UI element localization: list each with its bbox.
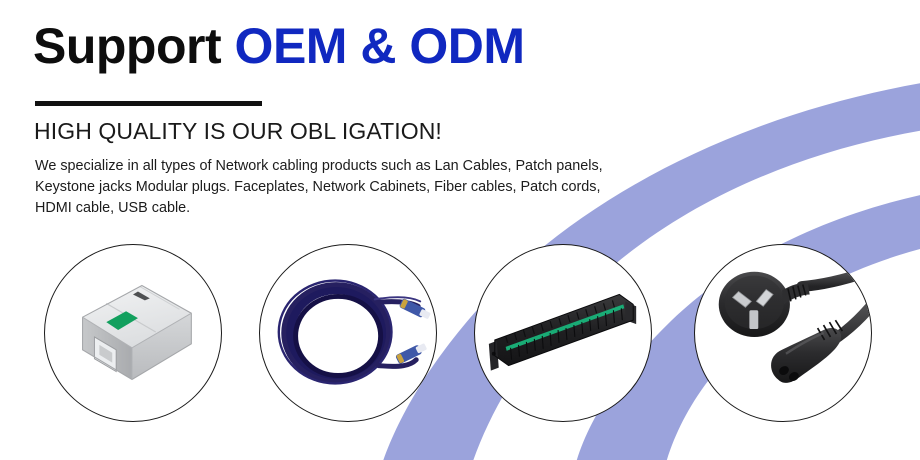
body-line-2: Keystone jacks Modular plugs. Faceplates… xyxy=(35,177,675,198)
body-line-3: HDMI cable, USB cable. xyxy=(35,198,675,219)
product-circle-patch-panel xyxy=(474,244,652,422)
power-cord-image xyxy=(695,245,871,421)
headline-support-word: Support xyxy=(33,18,221,74)
banner-subtitle: HIGH QUALITY IS OUR OBL IGATION! xyxy=(34,118,442,145)
body-line-1: We specialize in all types of Network ca… xyxy=(35,156,675,177)
banner-body-copy: We specialize in all types of Network ca… xyxy=(35,156,675,219)
fiber-connector-upper xyxy=(399,298,432,321)
patch-panel-image xyxy=(475,245,651,421)
headline-underline-rule xyxy=(35,101,262,106)
banner-headline: Support OEM & ODM xyxy=(33,20,524,73)
surface-mount-box-image xyxy=(45,245,221,421)
fiber-patch-cord-image xyxy=(260,245,436,421)
product-circle-surface-mount-box xyxy=(44,244,222,422)
c7-figure8-connector xyxy=(771,320,842,383)
headline-oem-odm-word: OEM & ODM xyxy=(235,18,525,74)
promo-banner: Support OEM & ODM HIGH QUALITY IS OUR OB… xyxy=(0,0,920,460)
product-circle-power-cord xyxy=(694,244,872,422)
product-circle-fiber-patch-cord xyxy=(259,244,437,422)
